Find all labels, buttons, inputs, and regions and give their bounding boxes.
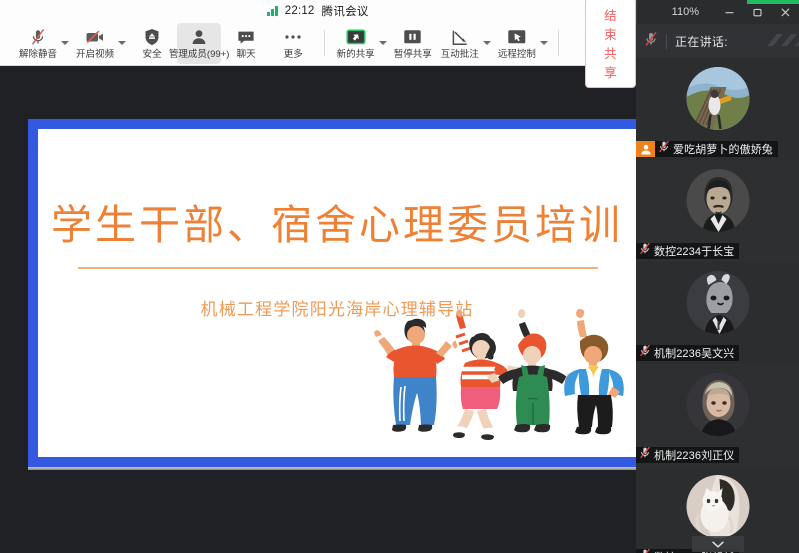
speaking-bar-divider [666,34,667,49]
shield-icon [144,28,160,47]
share-screen-icon [346,28,366,47]
annotate-options-caret[interactable] [483,24,491,62]
remote-options-caret[interactable] [540,24,548,62]
toolbar-button-annotate[interactable]: 互动批注 [438,23,482,64]
currently-speaking-label: 正在讲话: [675,33,728,50]
toolbar-label-unmute: 解除静音 [19,49,57,60]
toolbar-button-pause-share[interactable]: 暂停共享 [391,23,435,64]
toolbar-button-start-video[interactable]: 开启视频 [73,23,117,64]
mic-muted-icon [639,446,651,464]
avatar [686,169,749,232]
meeting-time: 22:12 [285,5,315,17]
presentation-slide: 学生干部、宿舍心理委员培训 机械工程学院阳光海岸心理辅导站 [38,129,636,457]
avatar [686,271,749,334]
participant-name-row: 机制2236吴文兴 [636,345,739,361]
participant-tile[interactable]: 数控2233张想越 [636,466,799,553]
participant-name: 数控2234于长宝 [654,243,734,259]
participant-tile[interactable]: 机制2236吴文兴 [636,262,799,364]
shared-slide-frame: 学生干部、宿舍心理委员培训 机械工程学院阳光海岸心理辅导站 [28,119,636,467]
mic-muted-icon [639,242,651,260]
shared-content-stage: 22:12 腾讯会议 解除静音 [0,0,636,553]
avatar [686,475,749,538]
minimize-icon[interactable] [715,0,743,24]
participant-tile[interactable]: 爱吃胡萝卜的傲娇兔 [636,58,799,160]
toolbar-label-annotate: 互动批注 [441,49,479,60]
participants-icon [190,28,208,47]
zoom-level-label: 110% [672,6,699,18]
toolbar-button-remote-control[interactable]: 远程控制 [495,23,539,64]
speaking-bar-decoration-icon [759,30,799,57]
more-dots-icon [283,28,303,47]
currently-speaking-bar: 正在讲话: [636,24,799,58]
participant-video-list[interactable]: 爱吃胡萝卜的傲娇兔 [636,58,799,553]
toolbar-button-unmute[interactable]: 解除静音 [16,23,60,64]
toolbar-label-manage-participants: 管理成员(99+) [169,49,229,60]
remote-control-icon [507,28,527,47]
participant-name-row: 爱吃胡萝卜的傲娇兔 [636,141,778,157]
meeting-toolbar: 解除静音 开启视频 [0,21,636,66]
chevron-down-icon[interactable] [692,536,744,552]
mic-muted-icon [644,31,658,52]
toolbar-label-start-video: 开启视频 [76,49,114,60]
mic-muted-icon [639,344,651,362]
toolbar-label-pause-share: 暂停共享 [394,49,432,60]
signal-bars-icon [267,6,278,16]
participant-name: 爱吃胡萝卜的傲娇兔 [673,141,773,157]
app-name-label: 腾讯会议 [322,3,369,19]
camera-off-icon [85,28,105,47]
toolbar-button-chat[interactable]: 聊天 [224,23,268,64]
toolbar-button-manage-participants[interactable]: 管理成员(99+) [177,23,221,64]
pause-icon [403,28,422,47]
toolbar-button-security[interactable]: 安全 [130,23,174,64]
participant-name: 机制2236刘正仪 [654,447,734,463]
participant-name-row: 机制2236刘正仪 [636,447,739,463]
toolbar-button-new-share[interactable]: 新的共享 [334,23,378,64]
toolbar-label-chat: 聊天 [237,49,256,60]
four-people-cheering-illustration [364,307,626,457]
chat-icon [237,28,255,47]
participants-panel: 110% 正在讲话: [636,0,799,553]
toolbar-button-more[interactable]: 更多 [271,23,315,64]
annotate-pen-icon [451,28,469,47]
screen-share-indicator-bar [747,0,799,4]
avatar [686,373,749,436]
end-share-button[interactable]: 结束共享 [585,0,636,88]
host-badge-icon [636,141,655,157]
slide-shadow [28,467,636,470]
toolbar-label-new-share: 新的共享 [337,49,375,60]
video-options-caret[interactable] [118,24,126,62]
mic-muted-icon [639,548,651,553]
mic-muted-icon [658,140,670,158]
toolbar-label-security: 安全 [143,49,162,60]
participant-tile[interactable]: 数控2234于长宝 [636,160,799,262]
avatar [686,67,749,130]
mic-options-caret[interactable] [61,24,69,62]
slide-title: 学生干部、宿舍心理委员培训 [38,191,636,251]
meeting-status-bar: 22:12 腾讯会议 [0,0,636,21]
meeting-window: 22:12 腾讯会议 解除静音 [0,0,799,553]
share-options-caret[interactable] [379,24,387,62]
mic-muted-icon [30,28,46,47]
participant-tile[interactable]: 机制2236刘正仪 [636,364,799,466]
slide-divider-rule [78,267,598,269]
participant-name-row: 数控2234于长宝 [636,243,739,259]
participant-name: 机制2236吴文兴 [654,345,734,361]
toolbar-label-more: 更多 [284,49,303,60]
toolbar-label-remote-control: 远程控制 [498,49,536,60]
